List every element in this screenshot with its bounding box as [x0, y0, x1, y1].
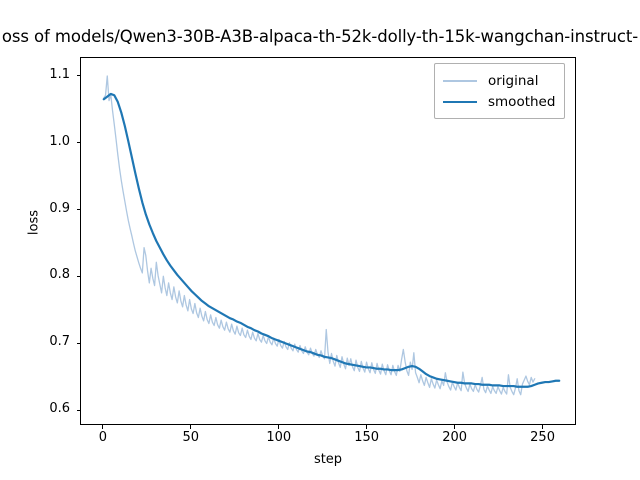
y-tick-label: 0.8 [14, 267, 70, 282]
y-tick-mark [77, 209, 81, 210]
x-tick-mark [278, 425, 279, 429]
y-tick-mark [77, 276, 81, 277]
y-tick-mark [77, 75, 81, 76]
x-tick-label: 250 [513, 430, 573, 445]
x-tick-mark [190, 425, 191, 429]
x-tick-mark [102, 425, 103, 429]
legend-swatch-original [443, 80, 477, 82]
y-tick-mark [77, 142, 81, 143]
x-tick-label: 50 [161, 430, 221, 445]
x-tick-mark [542, 425, 543, 429]
series-line-original [104, 76, 535, 395]
legend-item-smoothed: smoothed [443, 91, 555, 112]
x-tick-label: 150 [337, 430, 397, 445]
x-tick-mark [366, 425, 367, 429]
x-axis-label: step [80, 452, 576, 467]
legend-label-smoothed: smoothed [488, 94, 555, 110]
y-tick-mark [77, 410, 81, 411]
y-tick-mark [77, 343, 81, 344]
y-tick-label: 0.7 [14, 334, 70, 349]
x-tick-label: 100 [249, 430, 309, 445]
series-line-smoothed [104, 94, 559, 387]
legend-swatch-smoothed [443, 101, 477, 103]
y-axis-label: loss [27, 183, 42, 263]
matplotlib-figure: oss of models/Qwen3-30B-A3B-alpaca-th-52… [0, 0, 640, 480]
y-tick-label: 1.1 [14, 67, 70, 82]
y-tick-label: 0.9 [14, 201, 70, 216]
y-tick-label: 1.0 [14, 134, 70, 149]
legend-label-original: original [488, 73, 538, 89]
x-tick-label: 200 [425, 430, 485, 445]
page-title: oss of models/Qwen3-30B-A3B-alpaca-th-52… [2, 24, 638, 50]
x-tick-mark [454, 425, 455, 429]
y-tick-label: 0.6 [14, 401, 70, 416]
chart-title-container: oss of models/Qwen3-30B-A3B-alpaca-th-52… [0, 24, 640, 50]
legend: original smoothed [434, 63, 565, 119]
x-tick-label: 0 [73, 430, 133, 445]
legend-item-original: original [443, 70, 555, 91]
